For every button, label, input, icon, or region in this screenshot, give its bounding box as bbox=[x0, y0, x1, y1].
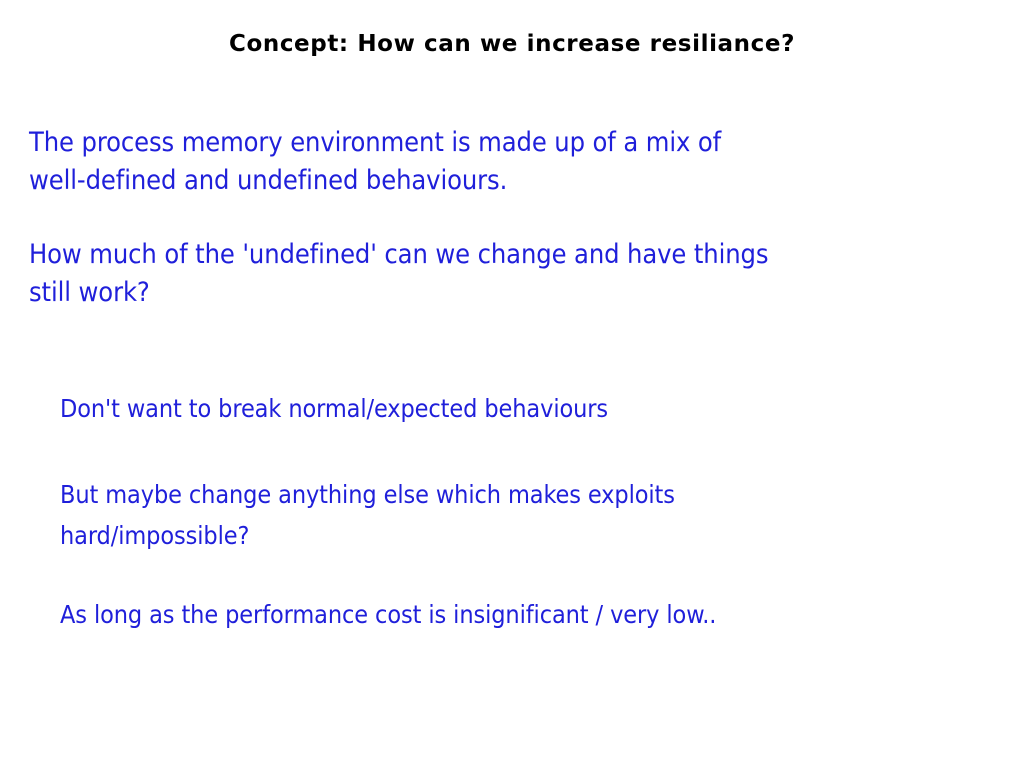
subpoint-line: Don't want to break normal/expected beha… bbox=[60, 388, 960, 429]
slide-title: Concept: How can we increase resiliance? bbox=[0, 29, 1024, 59]
subpoint-performance-cost: As long as the performance cost is insig… bbox=[60, 594, 960, 635]
subpoint-line: As long as the performance cost is insig… bbox=[60, 594, 960, 635]
paragraph-line: well-defined and undefined behaviours. bbox=[29, 162, 929, 200]
subpoint-line: But maybe change anything else which mak… bbox=[60, 474, 960, 515]
paragraph-line: How much of the 'undefined' can we chang… bbox=[29, 236, 929, 274]
subpoint-change-anything-else: But maybe change anything else which mak… bbox=[60, 474, 960, 556]
paragraph-line: The process memory environment is made u… bbox=[29, 124, 929, 162]
paragraph-process-memory: The process memory environment is made u… bbox=[29, 124, 929, 200]
paragraph-line: still work? bbox=[29, 274, 929, 312]
subpoint-dont-break-behaviours: Don't want to break normal/expected beha… bbox=[60, 388, 960, 429]
subpoint-line: hard/impossible? bbox=[60, 515, 960, 556]
paragraph-how-much-undefined: How much of the 'undefined' can we chang… bbox=[29, 236, 929, 312]
slide-canvas: Concept: How can we increase resiliance?… bbox=[0, 0, 1024, 768]
